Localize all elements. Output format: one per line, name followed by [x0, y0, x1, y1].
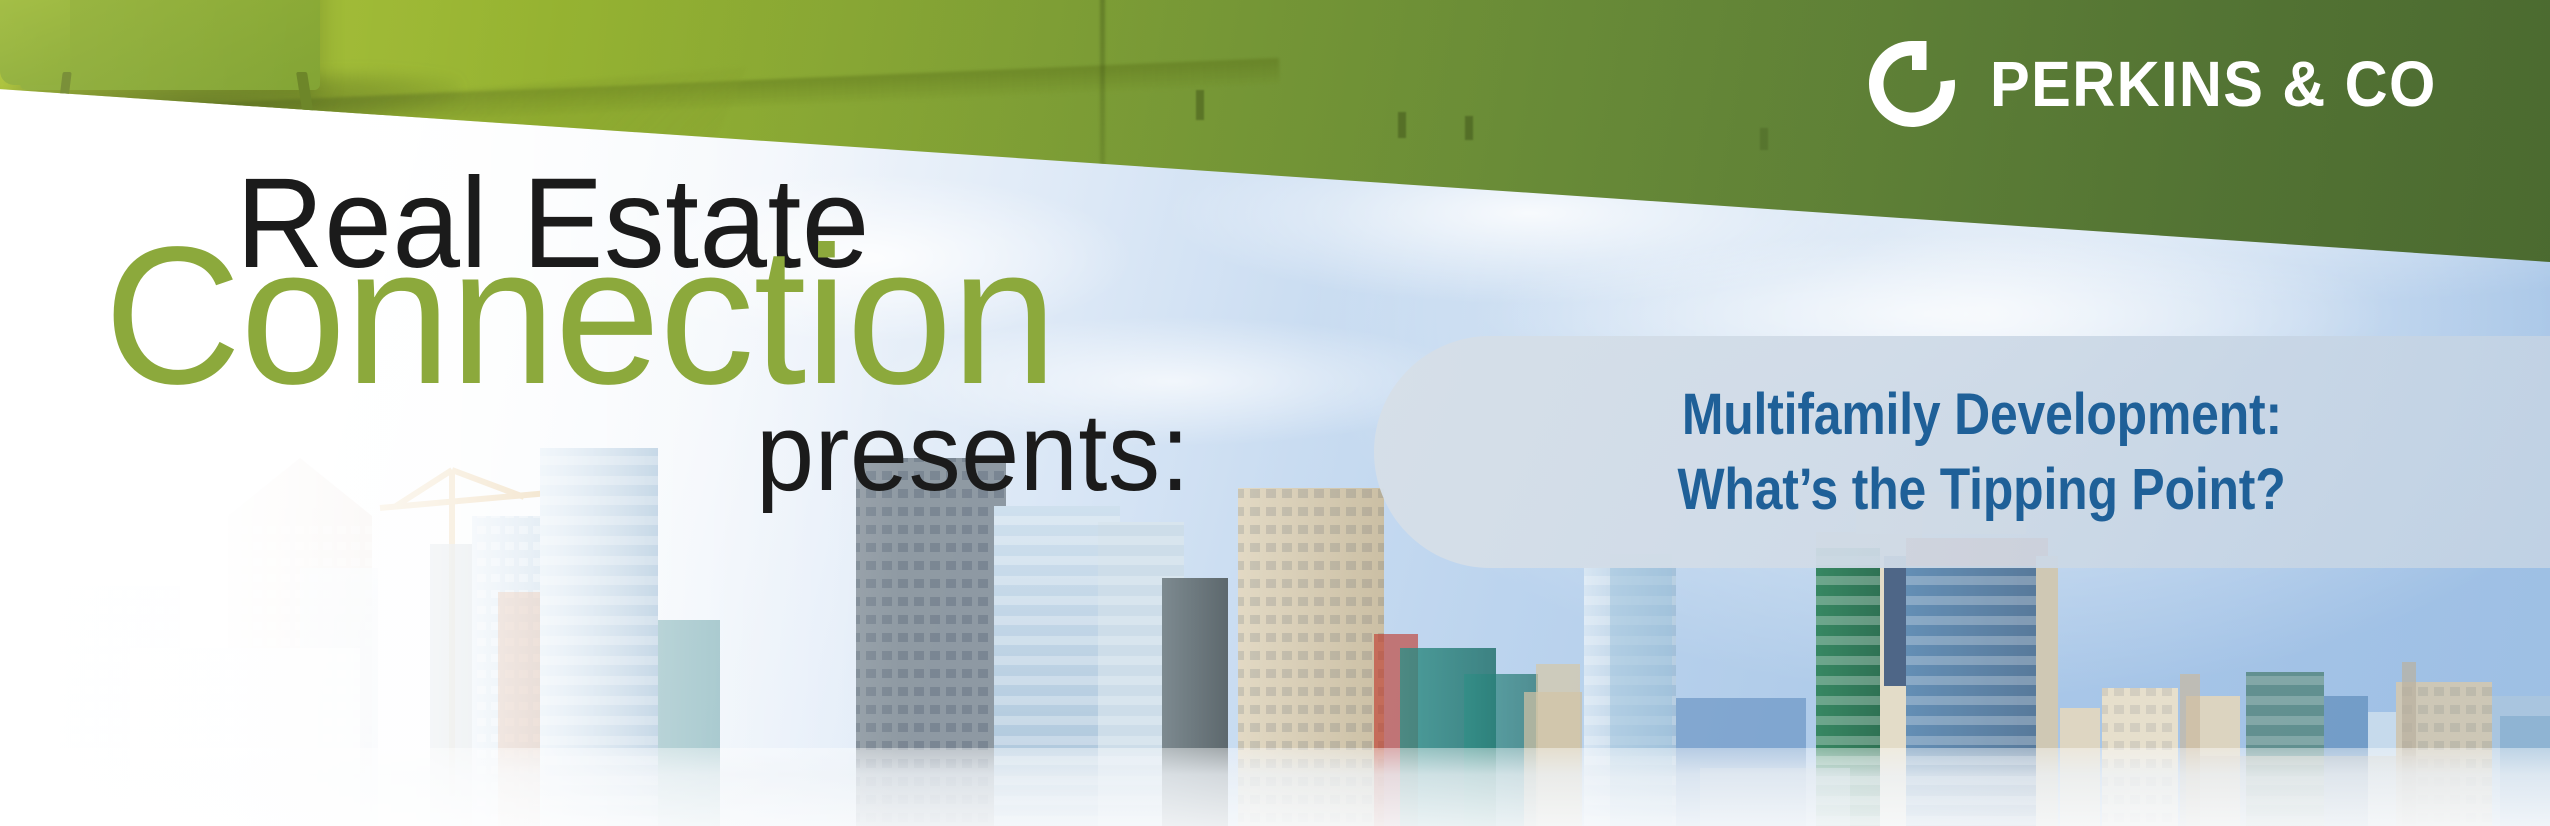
perkins-co-wordmark: PERKINS & CO	[1990, 52, 2437, 116]
headline-presents: presents:	[756, 398, 1190, 508]
perkins-ring-icon	[1862, 34, 1962, 134]
headline-connection: Connection	[104, 218, 1056, 414]
event-title: Multifamily Development: What’s the Tipp…	[1374, 336, 2550, 568]
event-title-line-2: What’s the Tipping Point?	[1678, 452, 2286, 527]
event-title-line-1: Multifamily Development:	[1682, 377, 2282, 452]
headline-block: Real Estate Connection presents:	[0, 160, 1420, 580]
perkins-co-logo[interactable]: PERKINS & CO	[1862, 34, 2470, 134]
event-banner: Multifamily Development: What’s the Tipp…	[0, 0, 2550, 826]
